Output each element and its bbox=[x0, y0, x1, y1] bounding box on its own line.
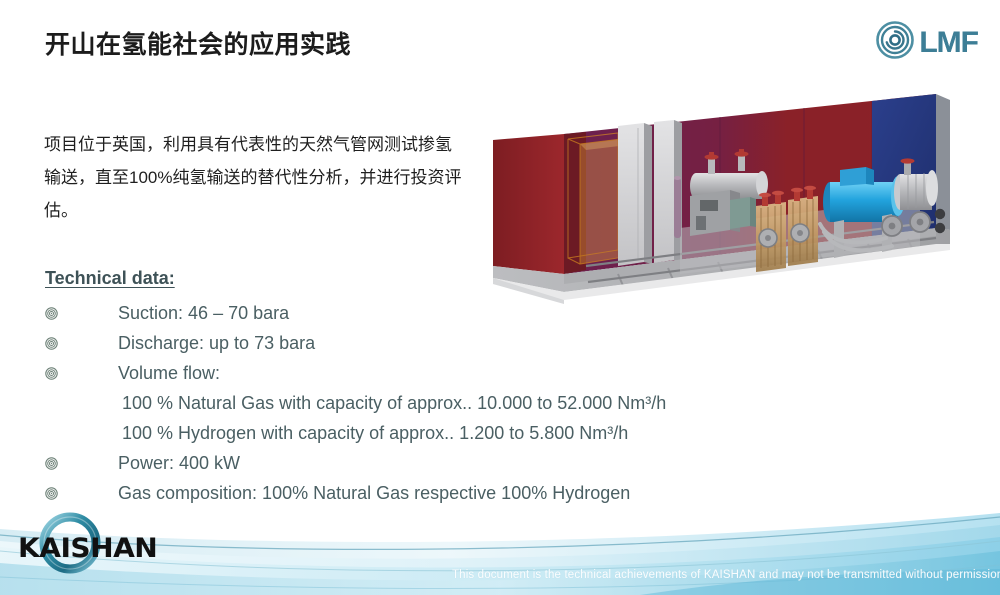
list-item: Power: 400 kW bbox=[40, 448, 900, 478]
concentric-spiral-icon bbox=[875, 20, 915, 65]
list-item: Discharge: up to 73 bara bbox=[40, 328, 900, 358]
lmf-logo: LMF bbox=[875, 20, 978, 65]
concentric-circles-bullet-icon bbox=[40, 448, 118, 478]
concentric-circles-bullet-icon bbox=[40, 328, 118, 358]
intro-paragraph: 项目位于英国，利用具有代表性的天然气管网测试掺氢输送，直至100%纯氢输送的替代… bbox=[44, 128, 464, 227]
list-item-subline-label: 100 % Hydrogen with capacity of approx..… bbox=[118, 418, 628, 448]
concentric-circles-bullet-icon bbox=[40, 298, 118, 328]
list-item-label: Discharge: up to 73 bara bbox=[118, 328, 315, 358]
containerized-compressor-3d-render bbox=[468, 78, 976, 313]
footer-disclaimer: This document is the technical achieveme… bbox=[452, 569, 1000, 581]
list-item-subline: 100 % Natural Gas with capacity of appro… bbox=[40, 388, 900, 418]
kaishan-wordmark: KAISHAN bbox=[18, 533, 157, 564]
list-item-subline-label: 100 % Natural Gas with capacity of appro… bbox=[118, 388, 666, 418]
technical-data-heading: Technical data: bbox=[45, 268, 175, 289]
lmf-wordmark: LMF bbox=[919, 26, 978, 60]
list-item-subline: 100 % Hydrogen with capacity of approx..… bbox=[40, 418, 900, 448]
kaishan-logo: KAISHAN bbox=[8, 509, 178, 581]
list-item: Volume flow: bbox=[40, 358, 900, 388]
page-title: 开山在氢能社会的应用实践 bbox=[45, 25, 351, 61]
list-item-label: Suction: 46 – 70 bara bbox=[118, 298, 289, 328]
technical-data-list: Suction: 46 – 70 bara Discharge: up to 7… bbox=[40, 298, 900, 508]
presentation-slide: 开山在氢能社会的应用实践 LMF 项目位于英国，利用具有代表性的天然气管网测试掺… bbox=[0, 0, 1000, 595]
list-item-label: Volume flow: bbox=[118, 358, 220, 388]
list-item-label: Power: 400 kW bbox=[118, 448, 240, 478]
concentric-circles-bullet-icon bbox=[40, 358, 118, 388]
